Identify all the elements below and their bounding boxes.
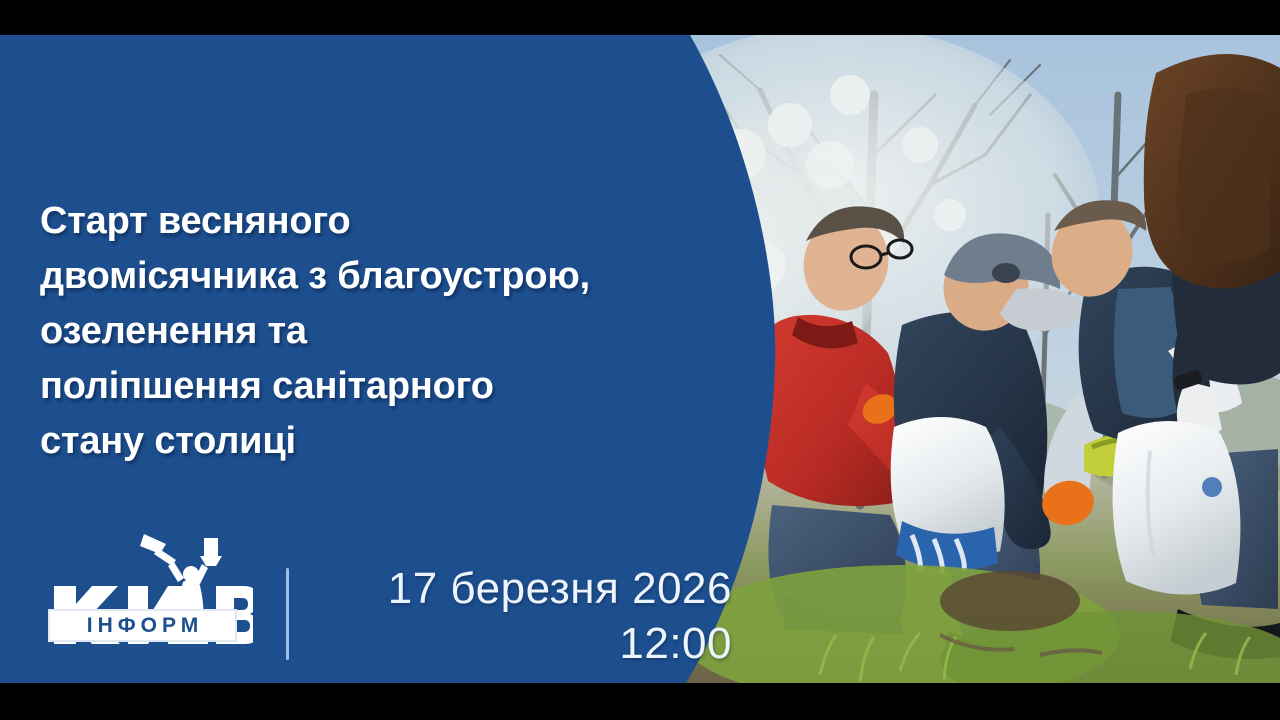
page-title: Старт весняного двомісячника з благоустр… bbox=[40, 194, 740, 469]
event-date: 17 березня 2026 bbox=[320, 561, 732, 616]
event-time: 12:00 bbox=[320, 616, 732, 671]
announcement-card: Старт весняного двомісячника з благоустр… bbox=[0, 0, 1280, 720]
card-canvas: Старт весняного двомісячника з благоустр… bbox=[0, 35, 1280, 683]
card-footer: ІНФОРМ 17 березня 2026 12:00 bbox=[40, 505, 740, 665]
logo-inform-bar: ІНФОРМ bbox=[48, 609, 237, 642]
letterbox-bottom bbox=[0, 683, 1280, 720]
kyiv-inform-logo[interactable]: ІНФОРМ bbox=[48, 530, 253, 645]
logo-word-inform: ІНФОРМ bbox=[82, 614, 203, 638]
footer-divider bbox=[286, 568, 289, 660]
letterbox-top bbox=[0, 0, 1280, 35]
event-datetime: 17 березня 2026 12:00 bbox=[320, 561, 732, 671]
panel-content: Старт весняного двомісячника з благоустр… bbox=[0, 35, 800, 683]
